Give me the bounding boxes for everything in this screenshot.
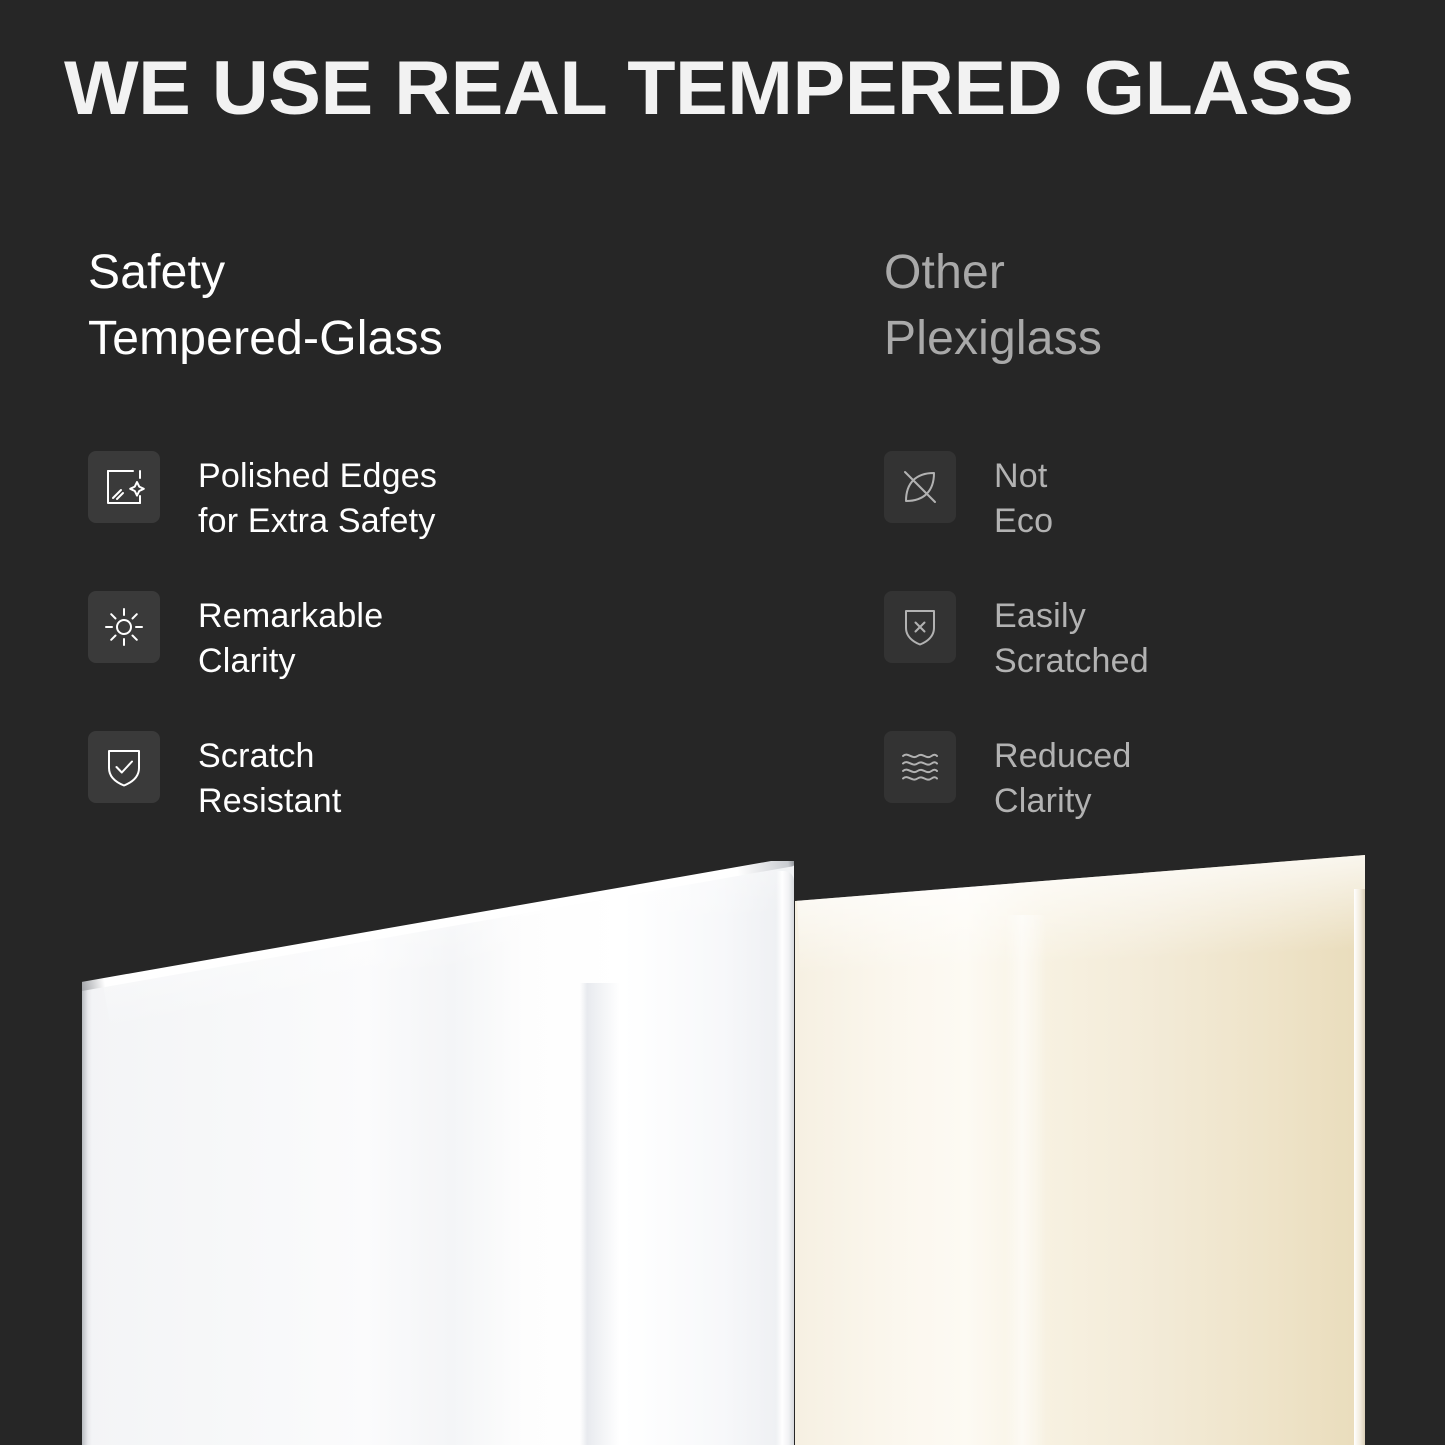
comparison-column-tempered-glass: Safety Tempered-Glass Polished Edges for…	[88, 240, 808, 372]
feature-label: Reduced Clarity	[994, 728, 1132, 824]
comparison-column-plexiglass: Other Plexiglass Not Eco	[884, 240, 1404, 372]
plexiglass-panel	[795, 855, 1365, 1445]
feature-line-1: Reduced	[994, 734, 1132, 779]
feature-line-1: Scratch	[198, 734, 342, 779]
feature-line-1: Polished Edges	[198, 454, 437, 499]
feature-line-2: Scratched	[994, 639, 1149, 684]
feature-line-2: Clarity	[198, 639, 383, 684]
page-title: WE USE REAL TEMPERED GLASS	[64, 42, 1445, 136]
product-panel-comparison-image	[0, 855, 1445, 1445]
feature-list-tempered-glass: Polished Edges for Extra Safety	[88, 448, 808, 868]
feature-line-1: Easily	[994, 594, 1149, 639]
heading-line-1: Safety	[88, 240, 808, 306]
tempered-glass-panel-left-edge	[82, 981, 92, 1445]
feature-label: Not Eco	[994, 448, 1053, 544]
feature-item: Polished Edges for Extra Safety	[88, 448, 808, 588]
heading-line-2: Plexiglass	[884, 306, 1404, 372]
shield-check-icon	[88, 731, 160, 803]
tempered-glass-panel-right-edge	[776, 871, 794, 1445]
polished-glass-pane-sparkle-icon	[88, 451, 160, 523]
feature-label: Scratch Resistant	[198, 728, 342, 824]
heading-line-2: Tempered-Glass	[88, 306, 808, 372]
feature-item: Scratch Resistant	[88, 728, 808, 868]
feature-item: Remarkable Clarity	[88, 588, 808, 728]
column-heading-tempered-glass: Safety Tempered-Glass	[88, 240, 808, 372]
feature-item: Not Eco	[884, 448, 1404, 588]
tempered-glass-panel	[82, 865, 794, 1445]
feature-line-2: Clarity	[994, 779, 1132, 824]
feature-item: Reduced Clarity	[884, 728, 1404, 868]
heading-line-1: Other	[884, 240, 1404, 306]
feature-line-1: Remarkable	[198, 594, 383, 639]
shield-x-icon	[884, 591, 956, 663]
feature-line-1: Not	[994, 454, 1053, 499]
feature-label: Polished Edges for Extra Safety	[198, 448, 437, 544]
sun-clarity-icon	[88, 591, 160, 663]
feature-item: Easily Scratched	[884, 588, 1404, 728]
feature-line-2: for Extra Safety	[198, 499, 437, 544]
feature-list-plexiglass: Not Eco Easily Scratched	[884, 448, 1404, 868]
leaf-crossed-out-icon	[884, 451, 956, 523]
feature-label: Easily Scratched	[994, 588, 1149, 684]
plexiglass-panel-edge	[1354, 889, 1365, 1445]
feature-line-2: Resistant	[198, 779, 342, 824]
feature-label: Remarkable Clarity	[198, 588, 383, 684]
feature-line-2: Eco	[994, 499, 1053, 544]
column-heading-plexiglass: Other Plexiglass	[884, 240, 1404, 372]
wavy-lines-icon	[884, 731, 956, 803]
